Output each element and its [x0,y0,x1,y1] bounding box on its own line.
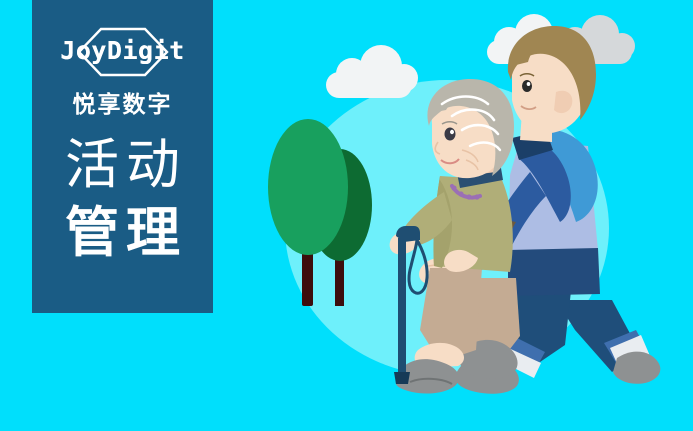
poster-canvas: JoyDigit 悦享数字 活动 管理 [0,0,693,431]
necklace-bead [474,194,479,199]
man-shirt-hem [508,248,600,296]
necklace-bead [451,185,456,190]
title-panel: JoyDigit 悦享数字 活动 管理 [32,0,213,313]
necklace-bead [466,194,471,199]
page-title: 活动 管理 [32,131,213,267]
man-eye-glint [527,82,531,86]
brand-block: JoyDigit 悦享数字 [32,26,213,119]
cane-tip [394,372,410,384]
woman-eye [445,128,456,141]
logo-mark: JoyDigit [53,26,193,78]
page-title-line-1: 活动 [32,131,213,199]
necklace-bead [458,191,463,196]
logo-wordmark: JoyDigit [53,36,193,66]
brand-name-cn: 悦享数字 [32,85,213,119]
cane-shaft [398,238,406,380]
man-eye [522,80,532,92]
page-title-line-2: 管理 [32,199,213,267]
woman-eye-glint [450,130,454,134]
